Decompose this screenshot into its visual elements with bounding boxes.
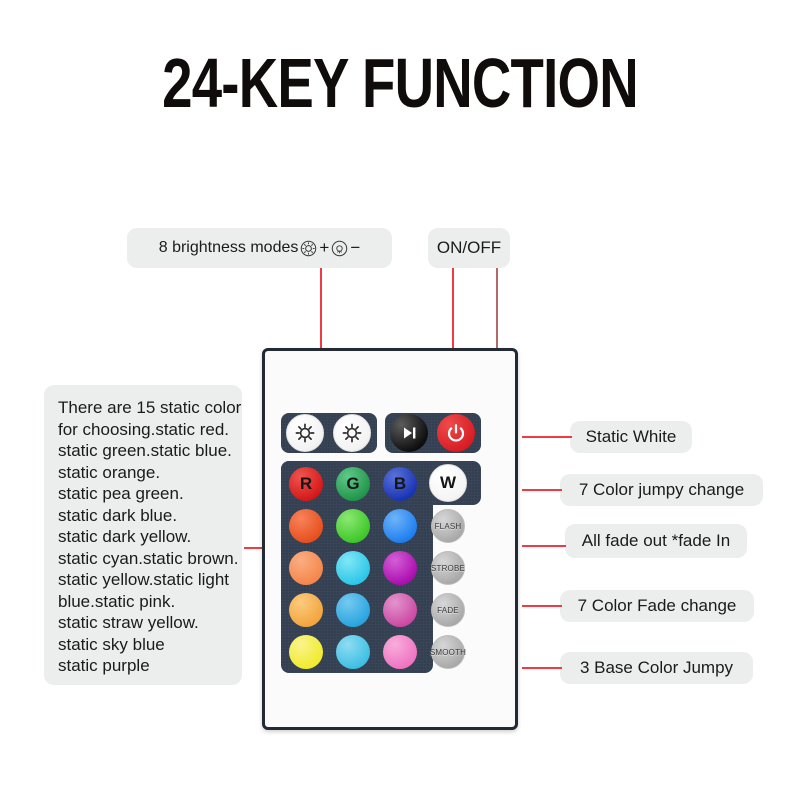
color-button-light-blue[interactable]	[336, 635, 370, 669]
connector-line-onoff-left	[452, 268, 454, 350]
color-button-straw-yellow[interactable]	[289, 593, 323, 627]
callout-onoff: ON/OFF	[428, 228, 510, 268]
static-color-line: blue.static pink.	[58, 591, 228, 613]
mode-button-flash[interactable]: FLASH	[431, 509, 465, 543]
color-button-orange-red[interactable]	[289, 509, 323, 543]
brightness-down-button[interactable]	[333, 414, 371, 452]
play-pause-button[interactable]	[390, 414, 428, 452]
static-color-line: static dark yellow.	[58, 526, 228, 548]
color-button-sky-blue[interactable]	[336, 593, 370, 627]
color-button-B[interactable]: B	[383, 467, 417, 501]
mode-button-smooth[interactable]: SMOOTH	[431, 635, 465, 669]
brightness-down-icon	[331, 240, 348, 257]
color-button-W[interactable]: W	[429, 464, 467, 502]
callout-color-fade: 7 Color Fade change	[560, 590, 754, 622]
callout-static-white: Static White	[570, 421, 692, 453]
static-color-line: static purple	[58, 655, 228, 677]
static-color-line: static yellow.static light	[58, 569, 228, 591]
connector-line-brightness	[320, 268, 322, 350]
connector-line-static-white	[522, 436, 572, 438]
static-color-line: for choosing.static red.	[58, 419, 228, 441]
color-button-yellow[interactable]	[289, 635, 323, 669]
callout-fade-out-in: All fade out *fade In	[565, 524, 747, 558]
static-color-line: static orange.	[58, 462, 228, 484]
mode-button-fade[interactable]: FADE	[431, 593, 465, 627]
color-button-light-orange[interactable]	[289, 551, 323, 585]
page-title: 24-KEY FUNCTION	[88, 48, 712, 118]
color-button-pink-magenta[interactable]	[383, 593, 417, 627]
callout-base-color-jumpy: 3 Base Color Jumpy	[560, 652, 753, 684]
power-button[interactable]	[437, 414, 475, 452]
brightness-up-button[interactable]	[286, 414, 324, 452]
color-button-bright-green[interactable]	[336, 509, 370, 543]
static-color-line: static green.static blue.	[58, 440, 228, 462]
callout-static-colors: There are 15 static color for choosing.s…	[44, 385, 242, 685]
power-button-group	[385, 413, 481, 453]
static-color-line: static straw yellow.	[58, 612, 228, 634]
callout-color-jumpy: 7 Color jumpy change	[560, 474, 763, 506]
remote-control-body: R G B W FLASH STROBE FADE SMOOTH	[262, 348, 518, 730]
brightness-up-icon	[300, 240, 317, 257]
color-button-R[interactable]: R	[289, 467, 323, 501]
connector-line-base-color-jumpy	[522, 667, 562, 669]
connector-line-color-fade	[522, 605, 562, 607]
connector-line-onoff-right	[496, 268, 498, 350]
color-button-blue[interactable]	[383, 509, 417, 543]
static-color-line: There are 15 static color	[58, 397, 228, 419]
mode-button-strobe[interactable]: STROBE	[431, 551, 465, 585]
color-button-G[interactable]: G	[336, 467, 370, 501]
static-color-line: static sky blue	[58, 634, 228, 656]
callout-brightness-text: 8 brightness modes	[159, 239, 299, 257]
brightness-button-group	[281, 413, 377, 453]
poster-canvas: 24-KEY FUNCTION 8 brightness modes +	[0, 0, 800, 800]
static-color-line: static dark blue.	[58, 505, 228, 527]
static-color-line: static cyan.static brown.	[58, 548, 228, 570]
color-button-magenta[interactable]	[383, 551, 417, 585]
color-button-cyan[interactable]	[336, 551, 370, 585]
callout-brightness-modes: 8 brightness modes +	[127, 228, 392, 268]
callout-minus-sign: −	[350, 238, 360, 258]
callout-plus-sign: +	[319, 238, 329, 258]
color-button-pink[interactable]	[383, 635, 417, 669]
connector-line-color-jumpy	[522, 489, 562, 491]
static-color-line: static pea green.	[58, 483, 228, 505]
connector-line-fade-out-in	[522, 545, 566, 547]
